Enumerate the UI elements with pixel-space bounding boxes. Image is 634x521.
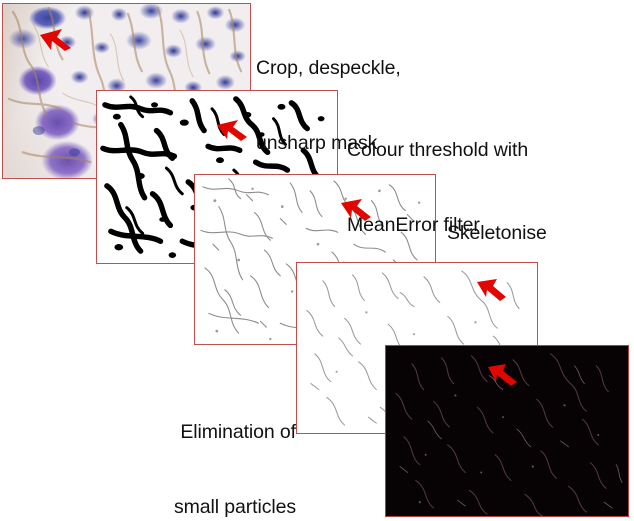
- panel-analyse-skeleton: [385, 345, 629, 517]
- caption-step-3-line-1: Skeletonise: [447, 221, 547, 246]
- caption-step-1-line-1: Crop, despeckle,: [256, 56, 401, 81]
- caption-step-5: Analyse Skeleton (2D/3D): [124, 472, 351, 521]
- caption-step-4-line-1: Elimination of: [64, 420, 296, 445]
- workflow-figure: Crop, despeckle, unsharp mask Colour thr…: [0, 0, 634, 521]
- analysed-skeleton-output: [386, 346, 628, 516]
- caption-step-2-line-1: Colour threshold with: [347, 138, 528, 163]
- caption-step-3: Skeletonise: [447, 171, 547, 296]
